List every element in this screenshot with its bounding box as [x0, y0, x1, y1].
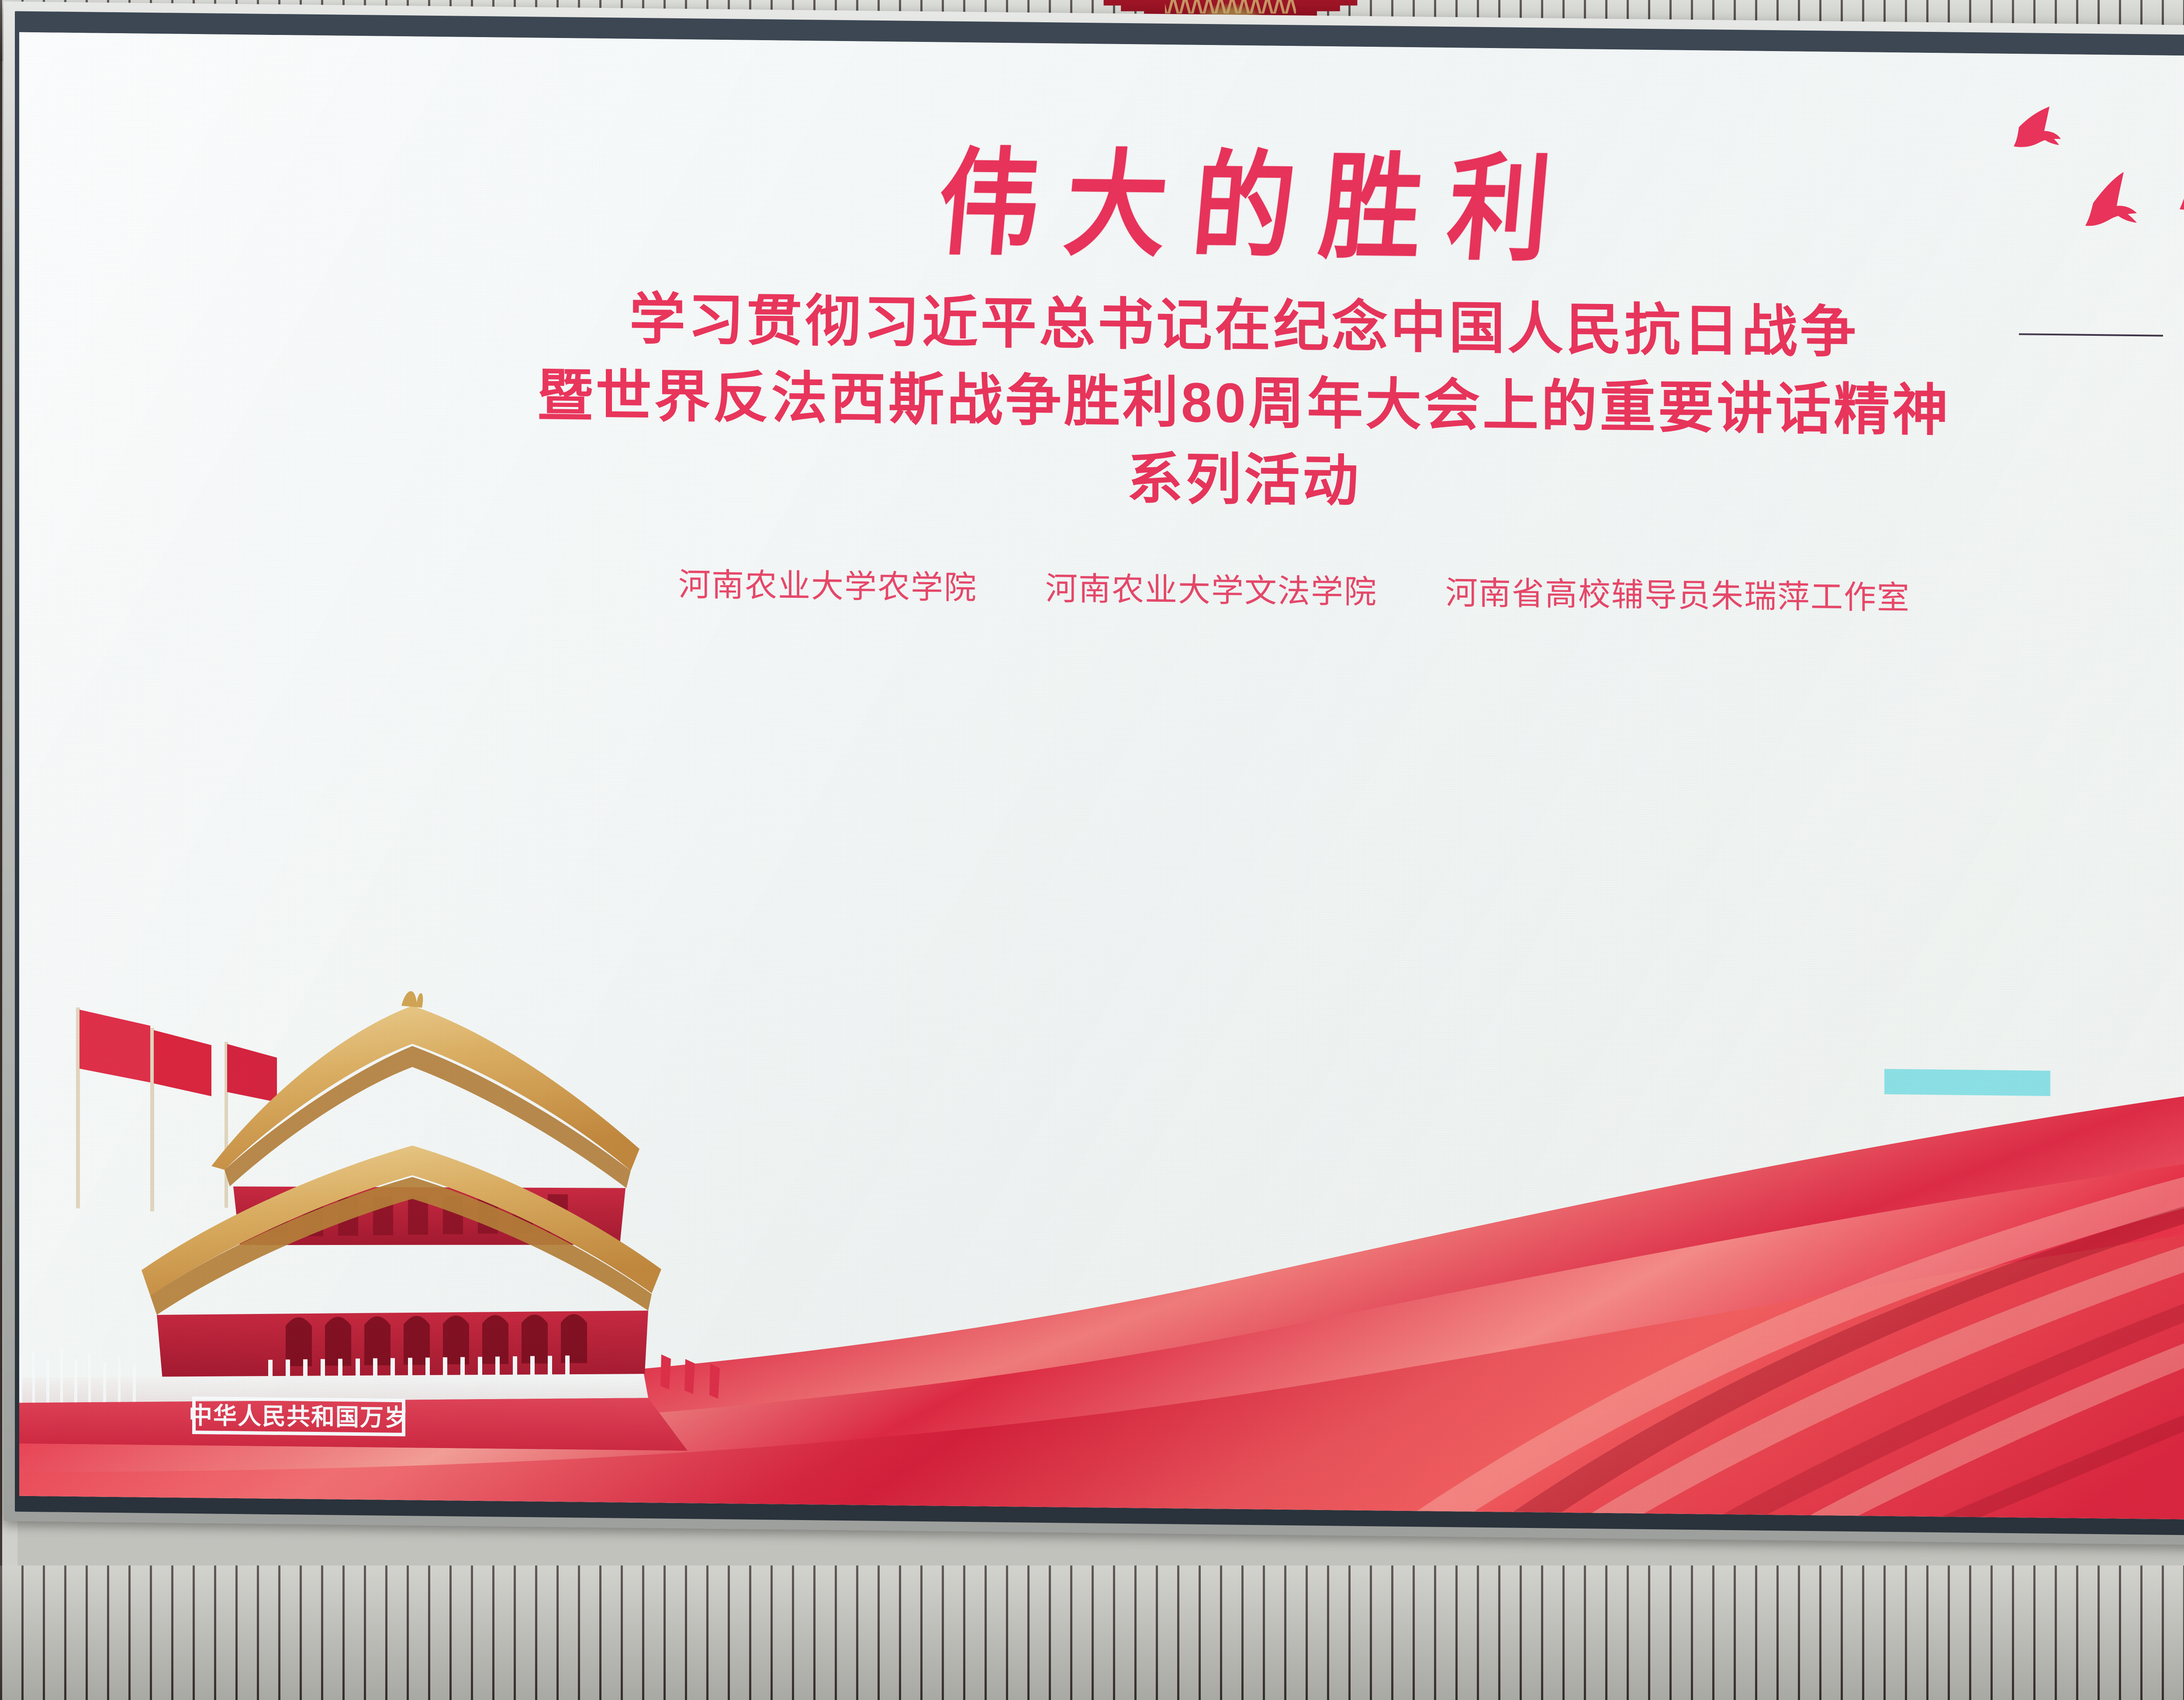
- led-display-panel[interactable]: 中华人民共和国万岁: [19, 32, 2184, 1523]
- organizer-3: 河南省高校辅导员朱瑞萍工作室: [1445, 567, 1910, 619]
- page-title: 伟大的胜利: [19, 132, 2184, 281]
- organizer-2: 河南农业大学文法学院: [1045, 562, 1377, 613]
- led-screen-assembly: 中华人民共和国万岁: [0, 15, 2184, 1569]
- tiananmen-gate-illustration: 中华人民共和国万岁: [19, 937, 775, 1452]
- ornament-gold-rays: [1165, 0, 1296, 14]
- cyan-overlay-artifact: [1884, 1069, 2050, 1096]
- screen-outer-frame: 中华人民共和国万岁: [3, 1, 2184, 1548]
- red-flags-left: [76, 1007, 277, 1213]
- conference-room-wall: 中华人民共和国万岁: [0, 0, 2184, 1700]
- gate-slogan-text: 中华人民共和国万岁: [189, 1402, 409, 1431]
- red-flags-right: [660, 1355, 720, 1399]
- slide-text-block: 伟大的胜利 学习贯彻习近平总书记在纪念中国人民抗日战争 暨世界反法西斯战争胜利8…: [19, 32, 2184, 624]
- organizer-1: 河南农业大学农学院: [678, 559, 977, 608]
- wall-panel-bottom: [0, 1566, 2184, 1700]
- gate-slogan-banner: 中华人民共和国万岁: [189, 1398, 409, 1434]
- screen-bezel: 中华人民共和国万岁: [15, 11, 2184, 1538]
- slide-subtitle: 学习贯彻习近平总书记在纪念中国人民抗日战争 暨世界反法西斯战争胜利80周年大会上…: [19, 275, 2184, 533]
